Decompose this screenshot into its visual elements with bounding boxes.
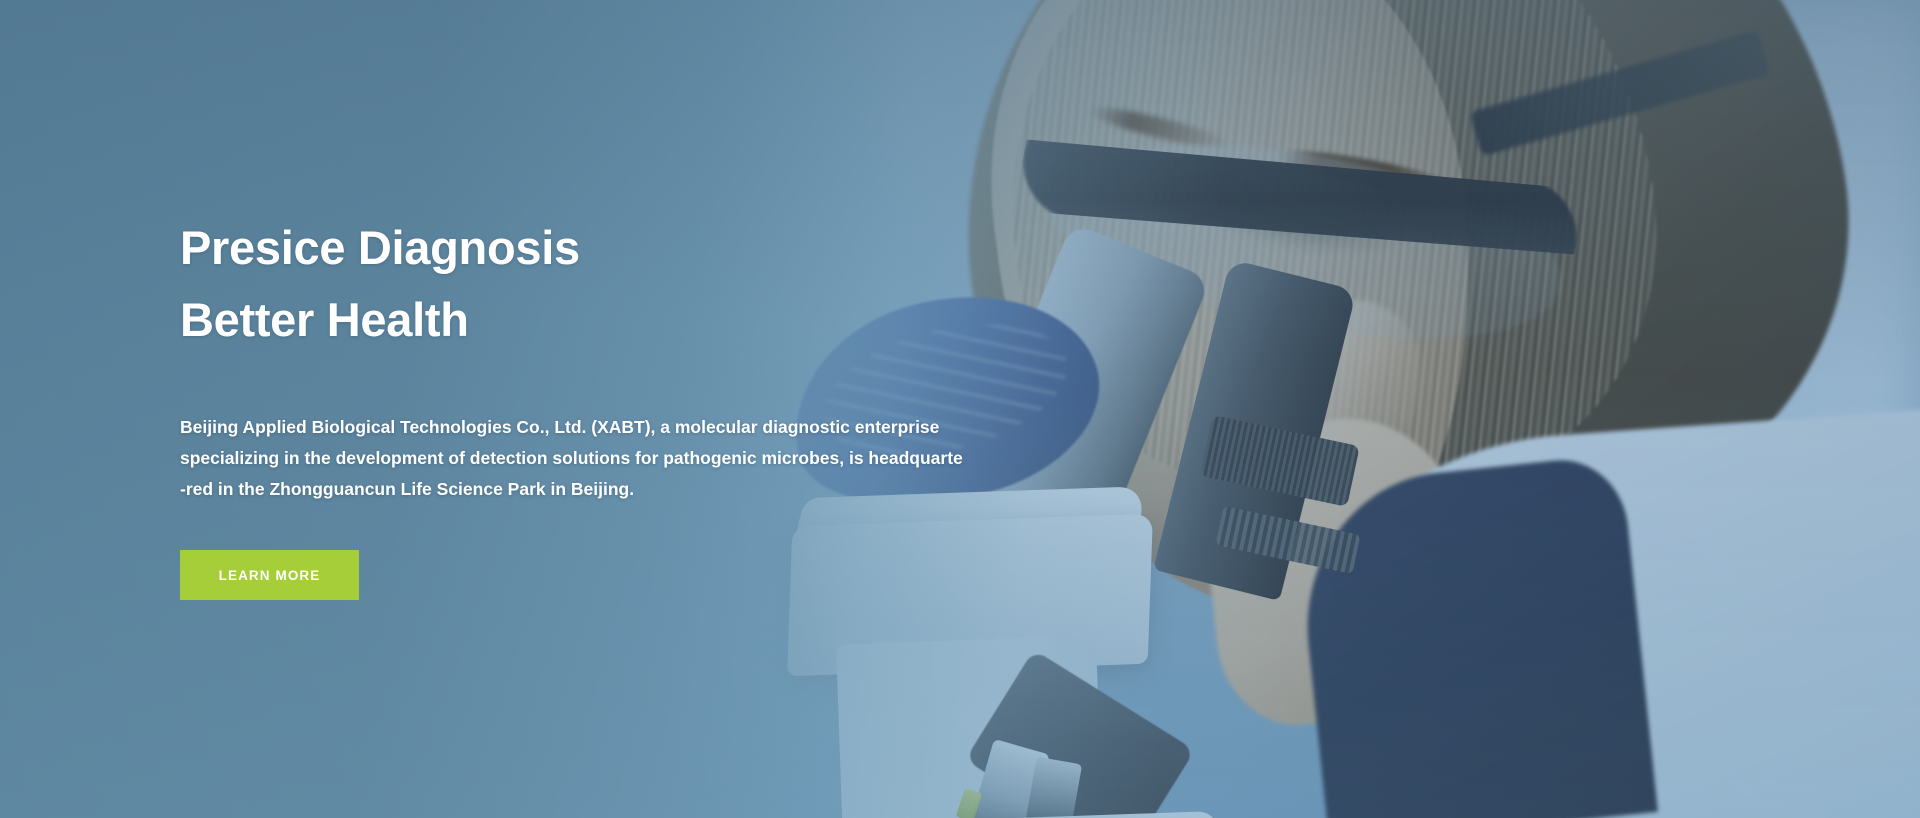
- hero-banner: Presice Diagnosis Better Health Beijing …: [0, 0, 1920, 818]
- hero-headline: Presice Diagnosis Better Health: [180, 212, 580, 356]
- hero-description: Beijing Applied Biological Technologies …: [180, 412, 1130, 505]
- hero-content: Presice Diagnosis Better Health Beijing …: [180, 0, 1180, 818]
- learn-more-button[interactable]: LEARN MORE: [180, 550, 359, 600]
